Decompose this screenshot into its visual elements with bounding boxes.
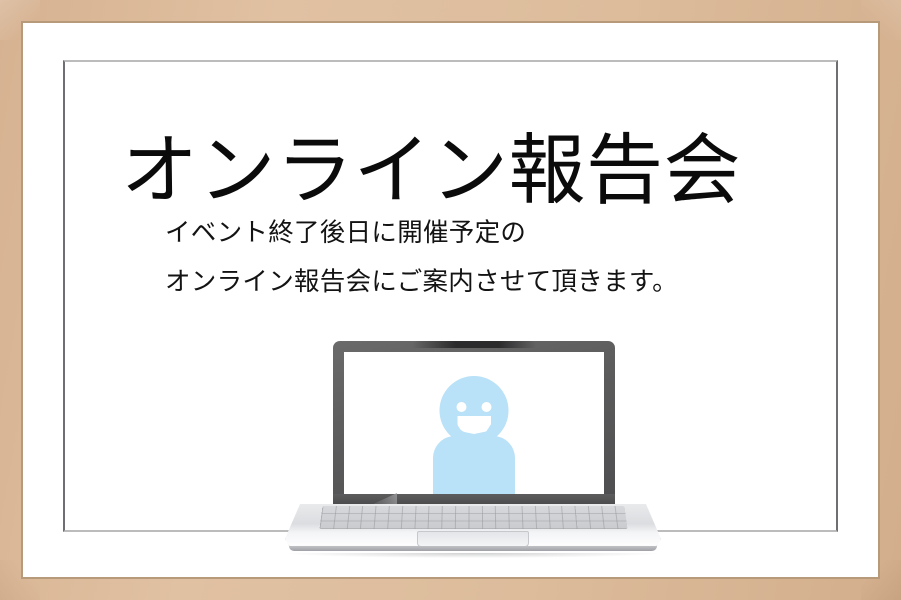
avatar-torso [433, 436, 515, 494]
body-text: イベント終了後日に開催予定の オンライン報告会にご案内させて頂きます。 [165, 209, 678, 307]
body-line-2: オンライン報告会にご案内させて頂きます。 [165, 258, 678, 307]
avatar-head-icon [440, 376, 509, 445]
laptop-keyboard-deck [285, 504, 661, 551]
laptop-trackpad [417, 531, 529, 547]
avatar-smile [457, 416, 491, 434]
laptop-illustration [285, 341, 661, 559]
avatar-eye-right [482, 402, 492, 412]
laptop-drop-shadow [287, 553, 659, 558]
avatar-eye-left [457, 402, 467, 412]
laptop-lid [333, 341, 615, 505]
laptop-keys [319, 506, 627, 529]
laptop-front-edge [289, 546, 657, 551]
body-line-1: イベント終了後日に開催予定の [165, 209, 678, 258]
page-title: オンライン報告会 [121, 128, 741, 214]
slide-mat: オンライン報告会 イベント終了後日に開催予定の オンライン報告会にご案内させて頂… [23, 23, 878, 577]
framed-slide: オンライン報告会 イベント終了後日に開催予定の オンライン報告会にご案内させて頂… [0, 0, 901, 600]
laptop-lid-sheen [412, 341, 536, 348]
laptop-screen [344, 352, 604, 494]
